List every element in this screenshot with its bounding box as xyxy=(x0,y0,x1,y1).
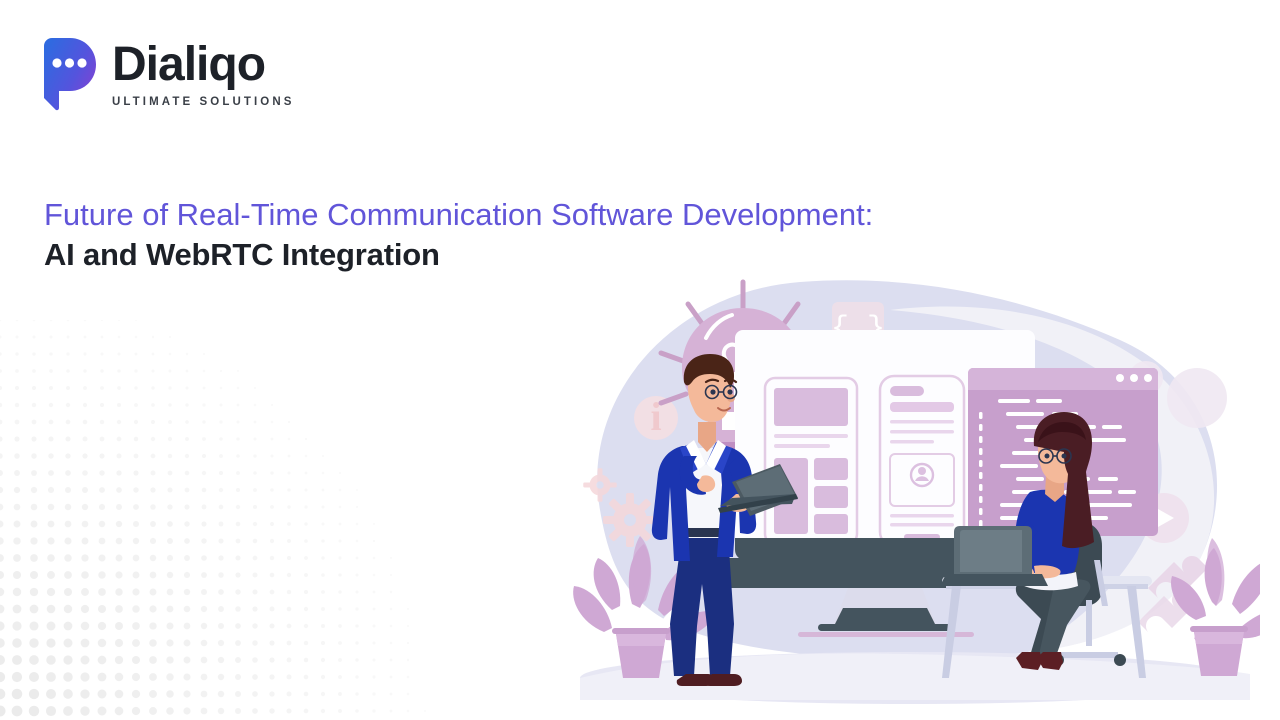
page-title: Future of Real-Time Communication Softwa… xyxy=(44,196,873,275)
brand-logo[interactable]: Dialiqo ULTIMATE SOLUTIONS xyxy=(40,36,295,112)
chat-bubble-logo-icon xyxy=(40,36,98,112)
svg-text:i: i xyxy=(650,394,661,439)
laptop-on-desk xyxy=(940,526,1048,586)
headline-line-2: AI and WebRTC Integration xyxy=(44,235,873,275)
brand-tagline: ULTIMATE SOLUTIONS xyxy=(112,96,295,108)
halftone-dot-pattern xyxy=(0,320,430,720)
ai-webrtc-development-illustration: i { } xyxy=(560,270,1260,720)
headline-line-1: Future of Real-Time Communication Softwa… xyxy=(44,196,873,235)
decor-circle-large xyxy=(1167,368,1227,428)
brand-wordmark: Dialiqo xyxy=(112,41,295,89)
